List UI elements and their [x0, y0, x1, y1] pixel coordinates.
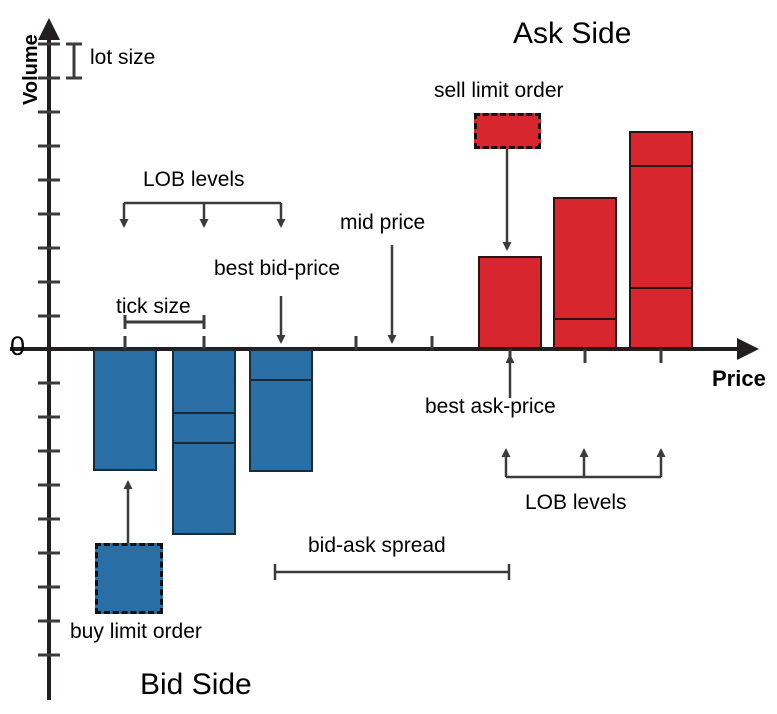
y-axis-label: Volume — [20, 34, 43, 105]
bid-level-2-order-divider-2 — [172, 442, 236, 444]
ask-level-3-order-divider-2 — [629, 287, 693, 289]
bid-level-2-order-divider-1 — [172, 412, 236, 414]
ask-level-3-bar[interactable] — [629, 131, 693, 349]
ask-side-title: Ask Side — [513, 17, 631, 51]
bid-side-title: Bid Side — [140, 668, 252, 702]
lob-levels-bid-label: LOB levels — [143, 168, 245, 192]
bid-level-3-order-divider-1 — [249, 379, 313, 381]
bid-level-3-bar[interactable] — [249, 349, 313, 472]
ask-level-2-bar[interactable] — [553, 197, 617, 349]
best-ask-price-label: best ask-price — [425, 395, 556, 419]
lot-size-indicator — [66, 44, 82, 78]
best-bid-price-label: best bid-price — [214, 257, 340, 281]
tick-size-label: tick size — [116, 295, 191, 319]
lot-size-label: lot size — [90, 46, 155, 70]
buy-limit-order-box[interactable] — [95, 543, 163, 614]
lob-levels-ask-label: LOB levels — [525, 491, 627, 515]
lob-levels-bracket-ask — [506, 450, 661, 477]
ask-level-3-order-divider-1 — [629, 165, 693, 167]
lob-levels-bracket-bid — [124, 203, 281, 226]
buy-limit-order-label: buy limit order — [70, 620, 202, 644]
lob-diagram: Volume 0 Price Ask Side Bid Side lot siz… — [0, 0, 777, 714]
ask-level-1-bar[interactable] — [478, 256, 542, 349]
sell-limit-order-box[interactable] — [474, 113, 541, 149]
sell-limit-order-label: sell limit order — [434, 79, 564, 103]
bid-ask-spread-indicator — [275, 564, 509, 580]
bid-level-1-bar[interactable] — [93, 349, 157, 471]
zero-tick-label: 0 — [10, 331, 25, 362]
bid-ask-spread-label: bid-ask spread — [308, 534, 446, 558]
ask-level-2-order-divider-1 — [553, 318, 617, 320]
x-axis-label: Price — [712, 366, 766, 392]
bid-level-2-bar[interactable] — [172, 349, 236, 535]
mid-price-label: mid price — [340, 211, 425, 235]
